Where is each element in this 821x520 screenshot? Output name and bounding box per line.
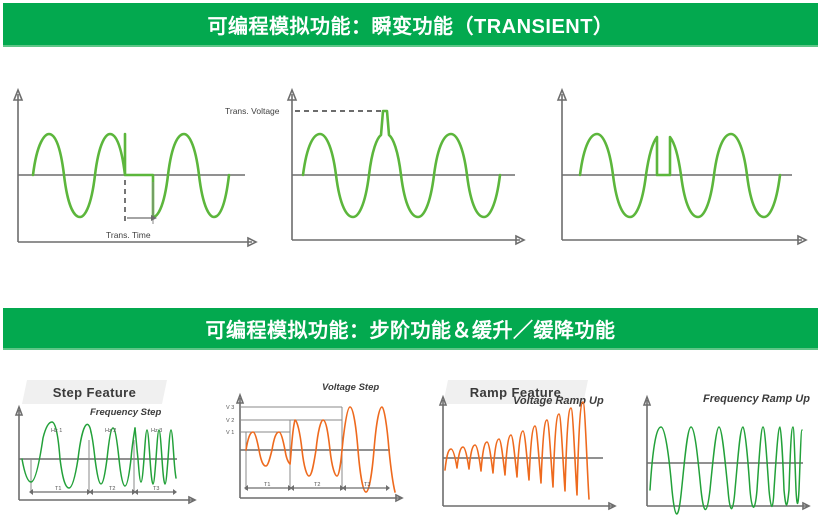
chart-frequency-step: Frequency Step Hz 1 Hz 2 Hz 3 xyxy=(5,370,205,520)
waveform-transient-surge xyxy=(303,111,500,217)
section-banner-step-ramp: 可编程模拟功能：步阶功能＆缓升／缓降功能 xyxy=(3,308,818,350)
t3-arrow-right xyxy=(173,489,177,495)
t3-arrow-right xyxy=(386,485,390,491)
waveform-stage-v2 xyxy=(290,420,342,476)
waveform-frequency-ramp-up xyxy=(650,427,802,514)
transient-chart-row: Trans. Time Trans. Voltage xyxy=(0,72,821,252)
t3-arrow-left xyxy=(342,485,346,491)
time-label-t2: T2 xyxy=(109,486,115,492)
chart-voltage-step: Voltage Step V 3 V 2 V 1 xyxy=(212,370,412,520)
stage-label-hz2: Hz 2 xyxy=(105,428,116,434)
banner-title-step-ramp: 可编程模拟功能：步阶功能＆缓升／缓降功能 xyxy=(206,314,616,343)
banner-title-transient: 可编程模拟功能：瞬变功能（TRANSIENT） xyxy=(208,10,614,39)
time-label-t3: T3 xyxy=(364,482,370,488)
t2-arrow-left xyxy=(89,489,93,495)
chart-frequency-ramp-up: Frequency Ramp Up xyxy=(633,370,821,520)
section-banner-transient: 可编程模拟功能：瞬变功能（TRANSIENT） xyxy=(3,3,818,47)
waveform-stage-v1 xyxy=(246,432,290,466)
time-label-t2: T2 xyxy=(314,482,320,488)
t2-arrow-left xyxy=(290,485,294,491)
voltage-step-title: Voltage Step xyxy=(322,382,379,393)
trans-time-label: Trans. Time xyxy=(106,230,151,240)
waveform-stage-hz2 xyxy=(91,428,135,486)
chart-voltage-ramp-up: Voltage Ramp Up xyxy=(425,370,635,520)
time-label-t1: T1 xyxy=(55,486,61,492)
chart-transient-notch xyxy=(530,72,821,252)
time-label-t1: T1 xyxy=(264,482,270,488)
voltage-ramp-up-title: Voltage Ramp Up xyxy=(513,395,604,407)
level-label-v2: V 2 xyxy=(226,418,234,424)
t3-arrow-left xyxy=(134,489,138,495)
step-ramp-chart-row: Frequency Step Hz 1 Hz 2 Hz 3 xyxy=(0,370,821,520)
stage-label-hz3: Hz 3 xyxy=(151,428,162,434)
waveform-stage-hz3 xyxy=(135,428,176,484)
trans-voltage-label: Trans. Voltage xyxy=(225,106,280,116)
frequency-step-title: Frequency Step xyxy=(90,407,161,418)
stage-label-hz1: Hz 1 xyxy=(51,428,62,434)
level-label-v1: V 1 xyxy=(226,430,234,436)
time-label-t3: T3 xyxy=(153,486,159,492)
frequency-ramp-up-title: Frequency Ramp Up xyxy=(703,393,810,405)
chart-transient-surge: Trans. Voltage xyxy=(215,72,535,252)
level-label-v3: V 3 xyxy=(226,405,234,411)
waveform-voltage-ramp-up xyxy=(445,402,589,499)
